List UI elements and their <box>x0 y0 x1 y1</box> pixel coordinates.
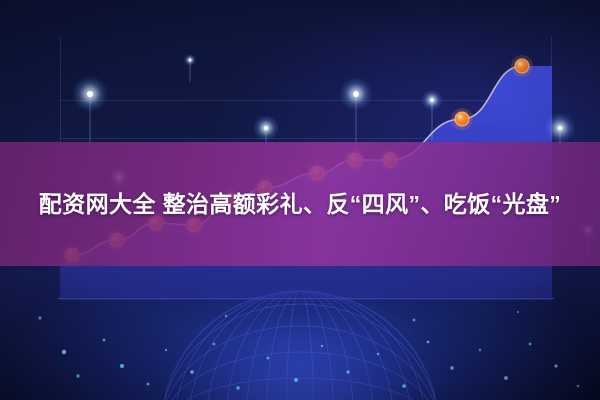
banner-image: 配资网大全 整治高额彩礼、反“四风”、吃饭“光盘” <box>0 0 600 400</box>
page-title: 配资网大全 整治高额彩礼、反“四风”、吃饭“光盘” <box>0 142 600 266</box>
